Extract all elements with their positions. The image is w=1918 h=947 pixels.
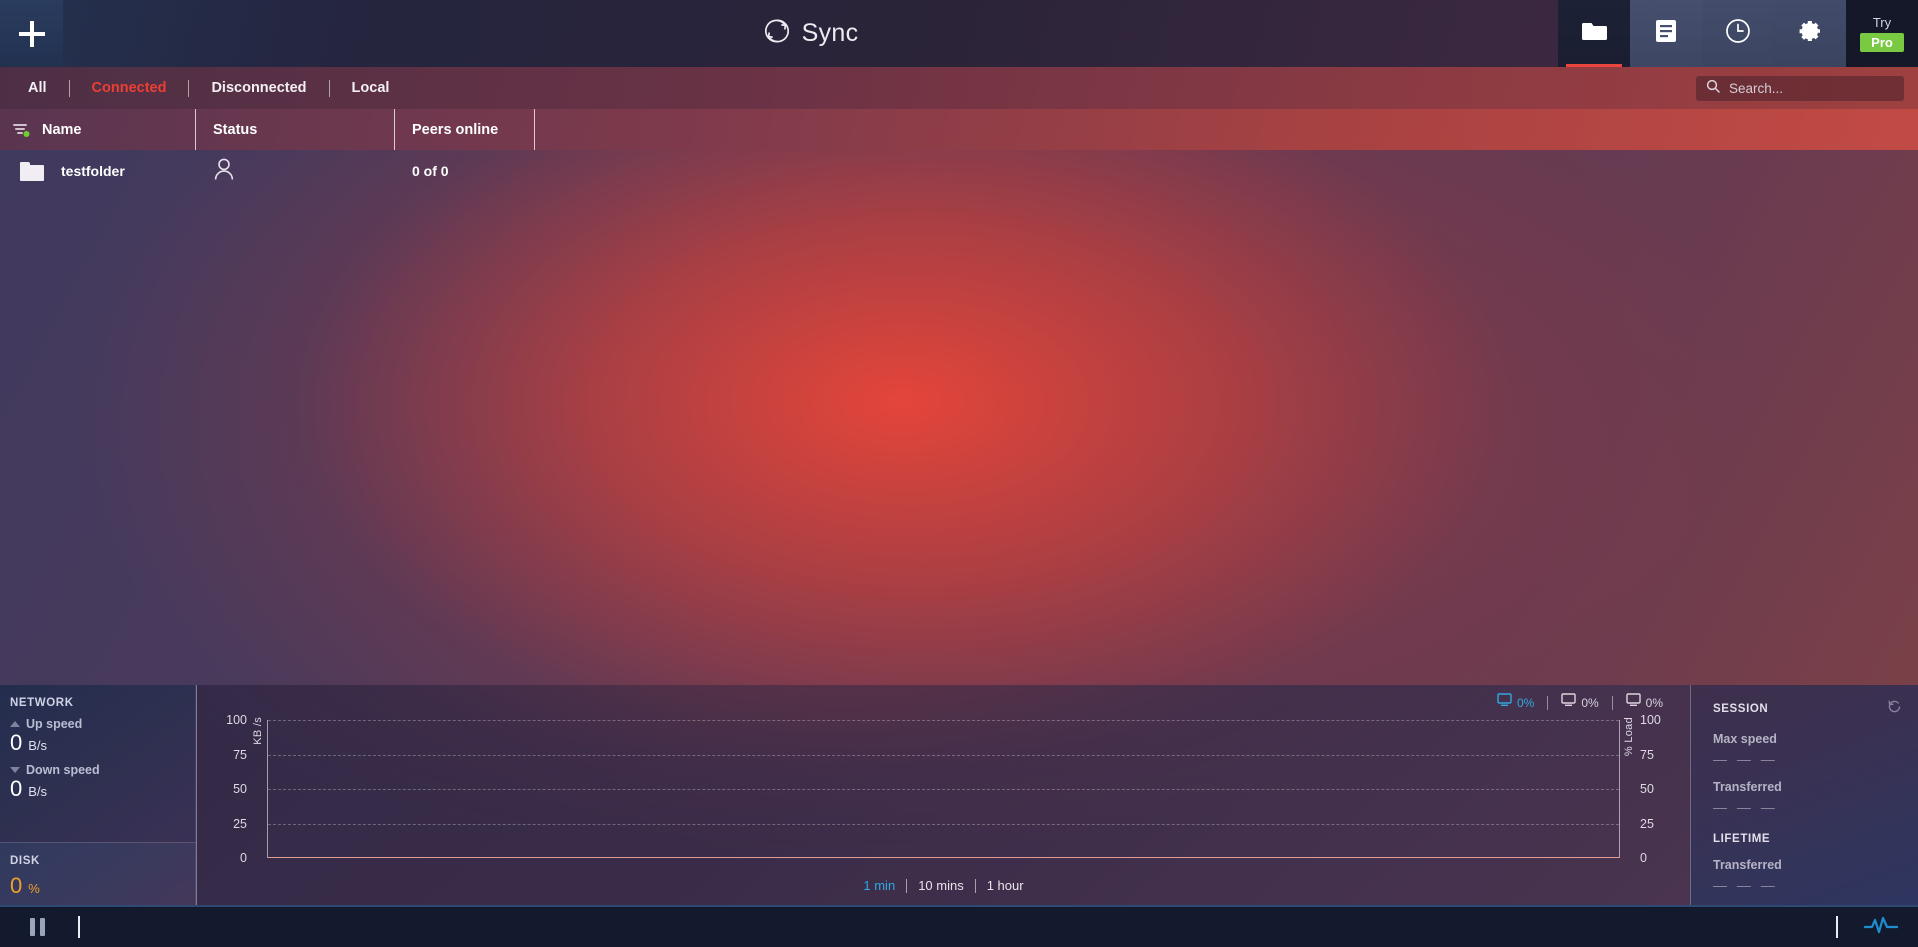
try-label: Try	[1873, 15, 1891, 30]
load-indicator-1-value: 0%	[1517, 696, 1534, 710]
disk-value-row: 0 %	[10, 875, 183, 897]
disk-usage-unit: %	[28, 881, 40, 896]
session-title: SESSION	[1713, 703, 1768, 715]
column-header-name-label: Name	[42, 122, 82, 138]
nav-settings-tab[interactable]	[1774, 0, 1846, 67]
column-header-spacer	[535, 109, 1918, 150]
user-icon	[213, 157, 235, 186]
nav-history-tab[interactable]	[1702, 0, 1774, 67]
load-indicator-2-value: 0%	[1581, 696, 1598, 710]
down-speed-label: Down speed	[26, 763, 100, 777]
network-panel: NETWORK Up speed 0 B/s Down speed 0 B/s	[0, 685, 196, 842]
lifetime-transferred-value: — — —	[1713, 877, 1902, 893]
down-speed-value: 0	[10, 778, 22, 800]
y-tick-left-3: 25	[233, 817, 247, 831]
y-tick-left-4: 0	[240, 851, 247, 865]
time-range-1hour[interactable]: 1 hour	[976, 878, 1035, 893]
monitor-icon	[1561, 693, 1576, 712]
column-header-name[interactable]: Name	[0, 109, 196, 150]
y-tick-right-2: 50	[1640, 782, 1654, 796]
app-title: Sync	[802, 19, 859, 48]
filter-tab-all[interactable]: All	[6, 80, 69, 96]
top-nav-icons: Try Pro	[1558, 0, 1918, 67]
nav-folders-tab[interactable]	[1558, 0, 1630, 67]
load-indicators: 0% 0%	[1484, 693, 1676, 712]
sort-filter-icon[interactable]	[0, 122, 42, 138]
status-divider	[78, 916, 80, 938]
load-indicator-3-value: 0%	[1646, 696, 1663, 710]
down-speed-label-row: Down speed	[10, 763, 183, 777]
filter-tab-disconnected[interactable]: Disconnected	[189, 80, 328, 96]
filter-tab-connected[interactable]: Connected	[70, 80, 189, 96]
load-indicator-3[interactable]: 0%	[1613, 693, 1676, 712]
table-row[interactable]: testfolder 0 of 0	[0, 150, 1918, 192]
y-tick-left-1: 75	[233, 748, 247, 762]
y-tick-right-0: 100	[1640, 713, 1661, 727]
down-speed-value-row: 0 B/s	[10, 778, 183, 800]
add-folder-button[interactable]	[0, 0, 63, 67]
arrow-up-icon	[10, 721, 20, 727]
session-header: SESSION	[1713, 699, 1902, 719]
up-speed-unit: B/s	[28, 738, 47, 753]
search-box[interactable]	[1696, 76, 1904, 101]
up-speed-value: 0	[10, 732, 22, 754]
session-transferred-label: Transferred	[1713, 780, 1902, 794]
y-tick-right-3: 25	[1640, 817, 1654, 831]
column-header-peers-label: Peers online	[412, 122, 498, 138]
chart-y-axis-right: 100 75 50 25 0	[1640, 713, 1682, 865]
filter-tabs: All Connected Disconnected Local	[0, 80, 411, 97]
monitor-icon	[1626, 693, 1641, 712]
try-pro-button[interactable]: Try Pro	[1846, 0, 1918, 67]
disk-panel: DISK 0 %	[0, 842, 196, 905]
disk-panel-title: DISK	[10, 855, 183, 867]
pro-badge: Pro	[1860, 33, 1904, 52]
time-range-1min[interactable]: 1 min	[852, 878, 906, 893]
clock-icon	[1725, 18, 1751, 49]
table-header: Name Status Peers online	[0, 109, 1918, 150]
row-cell-name: testfolder	[0, 162, 196, 181]
gridline	[268, 824, 1619, 825]
load-indicator-1[interactable]: 0%	[1484, 693, 1547, 712]
chart-plot-area	[267, 720, 1620, 858]
folder-name-label: testfolder	[61, 163, 125, 179]
activity-graph-toggle[interactable]	[1836, 915, 1898, 940]
gridline	[268, 720, 1619, 721]
row-cell-peers: 0 of 0	[395, 163, 535, 179]
y-tick-right-1: 75	[1640, 748, 1654, 762]
peers-online-value: 0 of 0	[412, 163, 449, 179]
sync-app-window: Sync	[0, 0, 1918, 947]
y-tick-left-0: 100	[226, 713, 247, 727]
lifetime-title: LIFETIME	[1713, 833, 1902, 845]
status-divider-right	[1836, 916, 1838, 938]
folder-list-area: testfolder 0 of 0	[0, 150, 1918, 685]
chart-series-speed-line	[268, 857, 1619, 858]
y-tick-right-4: 0	[1640, 851, 1647, 865]
search-input[interactable]	[1729, 81, 1906, 96]
column-header-status[interactable]: Status	[196, 109, 395, 150]
chart-y-axis-left: 100 75 50 25 0	[205, 713, 247, 865]
lifetime-transferred-label: Transferred	[1713, 858, 1902, 872]
arrow-down-icon	[10, 767, 20, 773]
y-axis-right-label: % Load	[1623, 717, 1635, 756]
filter-tab-local[interactable]: Local	[330, 80, 412, 96]
gridline	[268, 789, 1619, 790]
gridline	[268, 755, 1619, 756]
load-indicator-2[interactable]: 0%	[1548, 693, 1611, 712]
filter-bar: All Connected Disconnected Local	[0, 67, 1918, 109]
session-max-speed-value: — — —	[1713, 751, 1902, 767]
disk-usage-value: 0	[10, 875, 22, 897]
session-transferred-value: — — —	[1713, 799, 1902, 815]
up-speed-value-row: 0 B/s	[10, 732, 183, 754]
pause-bar-right	[40, 918, 45, 936]
session-panel: SESSION Max speed — — — Transferred — — …	[1690, 685, 1918, 905]
folder-icon	[20, 162, 44, 181]
nav-transfers-tab[interactable]	[1630, 0, 1702, 67]
status-bar	[0, 905, 1918, 947]
app-brand: Sync	[63, 0, 1558, 67]
up-speed-label-row: Up speed	[10, 717, 183, 731]
network-panel-title: NETWORK	[10, 697, 183, 709]
search-icon	[1706, 79, 1720, 98]
chart-time-range-tabs: 1 min 10 mins 1 hour	[197, 878, 1690, 893]
gear-icon	[1797, 18, 1823, 49]
y-axis-left-label: KB /s	[252, 717, 264, 745]
monitor-icon	[1497, 693, 1512, 712]
sync-logo-icon	[763, 17, 791, 50]
column-header-status-label: Status	[213, 122, 257, 138]
y-tick-left-2: 50	[233, 782, 247, 796]
activity-waveform-icon	[1864, 915, 1898, 940]
bandwidth-chart-panel: 0% 0%	[196, 685, 1690, 905]
up-speed-label: Up speed	[26, 717, 82, 731]
top-bar: Sync	[0, 0, 1918, 67]
pause-button[interactable]	[20, 916, 54, 938]
left-stats-column: NETWORK Up speed 0 B/s Down speed 0 B/s	[0, 685, 196, 905]
chart-plot-region: 100 75 50 25 0 KB /s % Load 100	[197, 713, 1690, 865]
pause-bar-left	[30, 918, 35, 936]
document-icon	[1655, 19, 1677, 48]
column-header-peers[interactable]: Peers online	[395, 109, 535, 150]
session-max-speed-label: Max speed	[1713, 732, 1902, 746]
down-speed-unit: B/s	[28, 784, 47, 799]
plus-icon	[19, 21, 45, 47]
time-range-10mins[interactable]: 10 mins	[907, 878, 975, 893]
folder-icon	[1581, 21, 1607, 47]
bottom-panels: NETWORK Up speed 0 B/s Down speed 0 B/s	[0, 685, 1918, 905]
row-cell-status	[196, 157, 395, 186]
reset-icon[interactable]	[1887, 699, 1902, 719]
